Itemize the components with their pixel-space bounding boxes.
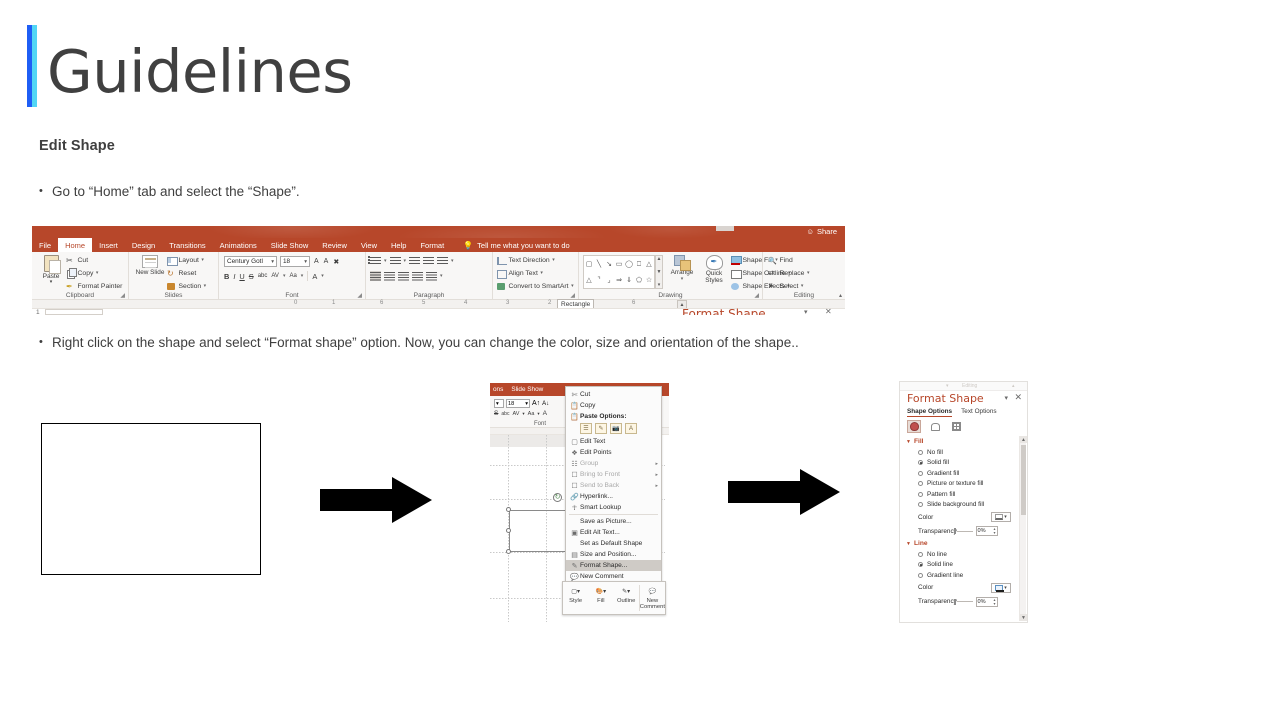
collapse-triangle-icon: ▼ [906,439,911,445]
ribbon-tab-strip: File Home Insert Design Transitions Anim… [32,238,845,252]
mini-style-button[interactable]: ▢▾ Style [563,582,588,614]
radio-button[interactable] [918,460,923,465]
ribbon-group-clipboard: Paste ▾ Cut Copy ▾ Format Pain [32,252,129,300]
scroll-up-icon[interactable]: ▲ [1020,436,1027,443]
tab-insert[interactable]: Insert [92,238,125,252]
star-shape-icon[interactable]: ☆ [646,277,652,284]
selected-shape[interactable] [509,510,569,552]
chevron-down-icon[interactable]: ▾ [96,268,99,279]
tab-format[interactable]: Format [413,238,451,252]
elbow-connector-icon[interactable]: ⌝ [597,277,600,284]
scissors-icon [66,256,75,265]
convert-to-smartart-button[interactable]: Convert to SmartArt ▾ [497,281,574,292]
ruler-tick: 4 [464,300,467,306]
scroll-down-icon[interactable]: ▼ [657,269,662,275]
increase-font-size-button[interactable]: A↑ [532,400,540,407]
chevron-down-icon[interactable]: ▾ [301,273,304,279]
fill-bucket-icon[interactable] [907,420,921,433]
radio-button[interactable] [918,552,923,557]
chevron-down-icon[interactable]: ▾ [283,273,286,279]
numbering-icon[interactable] [390,256,401,266]
layout-icon [167,256,176,265]
radio-button[interactable] [918,471,923,476]
tab-help[interactable]: Help [384,238,413,252]
ribbon-group-editing: Find Replace ▾ Select ▾ Editing ▴ [763,252,845,300]
divider [307,271,308,281]
menu-item-label: Format Shape... [580,562,661,569]
new-slide-button[interactable]: New Slide [135,255,165,276]
radio-solid-fill[interactable]: Solid fill [900,458,1021,469]
chevron-down-icon[interactable]: ▾ [540,268,543,279]
strikethrough-button[interactable]: S [494,410,498,417]
line-spacing-icon[interactable] [437,256,448,266]
format-painter-label: Format Painter [78,281,123,292]
tab-home[interactable]: Home [58,238,92,252]
radio-label: No line [927,551,947,558]
chevron-down-icon[interactable]: ▾ [321,273,324,279]
dialog-launcher-icon[interactable]: ◢ [754,292,759,299]
chevron-down-icon[interactable]: ▾ [1004,585,1007,591]
menu-item-hyperlink[interactable]: 🔗 Hyperlink... [566,491,661,502]
ribbon-group-paragraph-commands: Text Direction ▾ Align Text ▾ Convert to… [493,252,579,300]
change-case-button[interactable]: Aa [289,273,296,279]
fill-bucket-icon: 🎨▾ [588,585,613,598]
font-size-combo[interactable]: 18 ▾ [280,256,310,267]
increase-indent-icon[interactable] [423,256,434,266]
font-name-combo[interactable]: Century Gotl ▾ [224,256,277,267]
columns-icon[interactable] [426,271,437,281]
format-painter-button[interactable]: Format Painter [66,281,122,292]
font-size-value: 18 [508,401,514,407]
quick-styles-icon [706,255,723,270]
triangle-shape-icon[interactable]: △ [586,277,591,284]
paste-icon: 📋 [569,413,580,421]
line-shape-icon[interactable]: ╲ [597,261,601,268]
slider-track[interactable] [957,531,973,532]
mini-new-comment-button[interactable]: 💬 New Comment [640,582,665,614]
slider-handle[interactable] [954,528,956,534]
align-right-icon[interactable] [398,271,409,281]
chevron-down-icon[interactable]: ▾ [494,399,504,408]
partial-ribbon-strip: ▾ Editing ▴ [900,382,1027,391]
cut-button[interactable]: Cut [66,255,122,266]
oval-shape-icon[interactable]: ◯ [625,261,633,268]
radio-button[interactable] [918,502,923,507]
gallery-expand-icon[interactable]: ▾ [658,282,661,288]
shape-effects-icon [731,282,740,291]
mini-button-label: Outline [614,598,639,604]
line-transparency-stepper[interactable]: 0% ▴▾ [976,597,998,607]
menu-item-label: Edit Points [580,449,661,456]
decrease-font-size-button[interactable]: A [323,258,330,265]
text-direction-button[interactable]: Text Direction ▾ [497,255,574,266]
chevron-down-icon[interactable]: ▾ [801,281,804,292]
increase-font-size-button[interactable]: A [313,258,320,265]
share-button[interactable]: ☺ Share [806,227,837,236]
ribbon-group-slides: New Slide Layout ▾ Reset Section [129,252,219,300]
font-color-button[interactable]: A [543,410,547,417]
field-fill-color: Color ▾ [900,510,1021,524]
elbow-arrow-icon[interactable]: ⌟ [607,277,610,284]
dialog-launcher-icon[interactable]: ◢ [120,292,125,299]
fill-transparency-slider[interactable] [954,528,973,534]
ribbon-screenshot: ☺ Share File Home Insert Design Transiti… [32,226,845,315]
align-text-icon [497,269,506,278]
chevron-down-icon[interactable]: ▾ [384,258,387,264]
ruler-tick: 5 [422,300,425,306]
chevron-down-icon[interactable]: ▾ [804,308,808,315]
bold-button[interactable]: B [224,272,229,281]
close-icon[interactable]: ✕ [825,307,832,315]
section-subheading: Edit Shape [39,138,115,154]
fill-color-picker[interactable]: ▾ [991,512,1011,522]
section-icon [167,282,176,291]
radio-gradient-line[interactable]: Gradient line [900,570,1021,581]
shape-style-icon: ▢▾ [563,585,588,598]
justify-icon[interactable] [412,271,423,281]
menu-item-label: Hyperlink... [580,493,661,500]
radio-picture-or-texture-fill[interactable]: Picture or texture fill [900,479,1021,490]
radio-solid-line[interactable]: Solid line [900,560,1021,571]
blank-rectangle-shape[interactable] [41,423,261,575]
person-icon: ☺ [806,227,814,236]
mini-button-label: New Comment [640,598,665,610]
scrollbar-thumb[interactable] [1021,445,1026,515]
paragraph-command-list: Text Direction ▾ Align Text ▾ Convert to… [497,255,574,294]
bullet-item-1: • Go to “Home” tab and select the “Shape… [39,183,300,200]
ruler-tick: 0 [294,300,297,306]
title-accent-bars [27,25,37,107]
group-label-font: Font [534,421,546,427]
ruler-tick: 6 [380,300,383,306]
find-label: Find [780,255,793,266]
pane-body: ▼ Fill No fill Solid fill Gradient fill … [900,436,1021,621]
chevron-down-icon[interactable]: ▾ [525,401,528,407]
field-label: Color [918,514,951,521]
strikethrough-button[interactable]: S [249,272,254,281]
menu-item-format-shape[interactable]: ✎ Format Shape... [566,560,661,571]
chevron-down-icon[interactable]: ▾ [201,255,204,266]
accent-bar-cyan [32,25,37,107]
copy-label: Copy [78,268,94,279]
bring-front-icon: ☐ [569,471,580,479]
layout-grid-icon[interactable] [949,420,963,433]
new-comment-icon: 💬 [569,573,580,581]
chevron-down-icon[interactable]: ▾ [451,258,454,264]
chevron-down-icon[interactable]: ▾ [552,255,555,266]
stepper-value: 0% [978,599,986,605]
pentagon-shape-icon[interactable]: ⬠ [636,277,642,284]
copy-button[interactable]: Copy ▾ [66,268,122,279]
font-controls-row-1: ▾ 18 ▾ A↑ A↓ [494,399,549,408]
slider-track[interactable] [957,601,973,602]
slide-thumbnail[interactable] [45,309,103,315]
tab-slide-show[interactable]: Slide Show [264,238,316,252]
paste-options-row: ☰ ✎ 📷 A [566,422,661,436]
mini-fill-button[interactable]: 🎨▾ Fill [588,582,613,614]
stepper-arrows-icon[interactable]: ▴▾ [993,598,995,606]
bullets-icon[interactable] [370,256,381,266]
chevron-down-icon[interactable]: ▾ [271,259,274,265]
tell-me-search[interactable]: 💡 Tell me what you want to do [451,238,570,252]
align-center-icon[interactable] [384,271,395,281]
collapse-ribbon-icon[interactable]: ▴ [839,292,842,299]
menu-item-save-as-picture[interactable]: Save as Picture... [566,516,661,527]
menu-item-label: Edit Text [580,438,661,445]
reset-label: Reset [179,268,197,279]
mini-outline-button[interactable]: ✎▾ Outline [614,582,639,614]
chevron-down-icon[interactable]: ▾ [522,411,524,417]
chevron-down-icon[interactable]: ▾ [571,281,574,292]
tab-shape-options[interactable]: Shape Options [907,408,952,417]
editing-command-list: Find Replace ▾ Select ▾ [768,255,809,294]
dialog-launcher-icon[interactable]: ◢ [357,292,362,299]
font-color-button[interactable]: A [312,272,317,281]
menu-item-copy[interactable]: 📋 Copy [566,400,661,411]
reset-button[interactable]: Reset [167,268,206,279]
radio-label: Pattern fill [927,491,955,498]
menu-item-bring-to-front: ☐ Bring to Front ▸ [566,469,661,480]
workspace-strip: 1 Format Shape ▾ ✕ [32,309,845,315]
underline-button[interactable]: U [239,272,244,281]
align-left-icon[interactable] [370,271,381,281]
replace-button[interactable]: Replace ▾ [768,268,809,279]
menu-item-label: Group [580,460,655,467]
share-label: Share [817,227,837,236]
context-menu-screenshot: ons Slide Show ▾ 18 ▾ A↑ A↓ S abc AV ▾ A… [490,383,669,622]
text-shadow-button[interactable]: abc [258,273,268,279]
format-shape-pane-screenshot: ▾ Editing ▴ Format Shape ▾ ✕ Shape Optio… [899,381,1028,623]
flow-arrow-1 [320,477,432,523]
tab-review[interactable]: Review [315,238,354,252]
group-label-font: Font [219,292,365,299]
layout-label: Layout [179,255,199,266]
fill-transparency-stepper[interactable]: 0% ▴▾ [976,526,998,536]
tab-view[interactable]: View [354,238,384,252]
find-button[interactable]: Find [768,255,809,266]
font-controls-row-1: Century Gotl ▾ 18 ▾ A A ✖ [224,256,340,267]
menu-item-edit-text[interactable]: ▢ Edit Text [566,436,661,447]
powerpoint-slide: Guidelines Edit Shape • Go to “Home” tab… [0,0,1280,720]
radio-no-fill[interactable]: No fill [900,447,1021,458]
tab-slide-show[interactable]: Slide Show [511,386,543,393]
ribbon-group-drawing: ▢ ╲ ↘ ▭ ◯ ⎕ △ △ ⌝ ⌟ ⇒ ⇓ ⬠ ☆ ▲ ▼ [579,252,763,300]
change-case-button[interactable]: Aa [528,411,535,417]
radio-slide-background-fill[interactable]: Slide background fill [900,500,1021,511]
section-header-line[interactable]: ▼ Line [900,538,1021,549]
new-slide-icon [142,255,158,268]
field-label: Color [918,584,951,591]
flow-arrow-2 [728,469,840,515]
effects-pentagon-icon[interactable] [928,420,942,433]
line-transparency-slider[interactable] [954,599,973,605]
paragraph-list-controls: ▾ ▾ ▾ [370,256,454,266]
menu-item-paste-options: 📋 Paste Options: [566,411,661,422]
copy-icon: 📋 [569,402,580,410]
close-icon[interactable]: ✕ [1014,392,1022,403]
menu-item-label: Size and Position... [580,551,661,558]
shapes-gallery[interactable]: ▢ ╲ ↘ ▭ ◯ ⎕ △ △ ⌝ ⌟ ⇒ ⇓ ⬠ ☆ [583,255,655,289]
menu-item-group: ☷ Group ▸ [566,458,661,469]
copy-icon [66,269,75,278]
menu-item-label: Paste Options: [580,413,661,420]
decrease-indent-icon[interactable] [409,256,420,266]
paste-image-icon[interactable]: 📷 [610,423,622,434]
radio-button[interactable] [918,562,923,567]
menu-item-label: Save as Picture... [580,518,661,525]
clear-formatting-icon[interactable]: ✖ [332,258,340,266]
chevron-down-icon[interactable]: ▾ [404,258,407,264]
radio-gradient-fill[interactable]: Gradient fill [900,468,1021,479]
radio-button[interactable] [918,573,923,578]
radio-label: Gradient fill [927,470,959,477]
chevron-down-icon[interactable]: ▾ [667,276,697,282]
right-arrow-icon [728,469,840,515]
rectangle-shape-icon[interactable]: ▭ [616,261,623,268]
chevron-down-icon[interactable]: ▾ [807,268,810,279]
line-color-picker[interactable]: ▾ [991,583,1011,593]
menu-item-set-default-shape[interactable]: Set as Default Shape [566,538,661,549]
menu-item-size-and-position[interactable]: ▤ Size and Position... [566,549,661,560]
menu-item-label: Smart Lookup [580,504,661,511]
radio-label: Picture or texture fill [927,480,983,487]
rounded-rect-shape-icon[interactable]: ⎕ [637,261,641,268]
ruler-tick: 1 [332,300,335,306]
paste-button[interactable]: Paste ▾ [38,255,64,284]
line-color-swatch [995,585,1003,591]
resize-handle[interactable] [506,507,511,512]
right-arrow-shape-icon[interactable]: ⇒ [616,277,622,284]
radio-label: Solid line [927,561,953,568]
italic-button[interactable]: I [233,272,235,281]
decrease-font-size-button[interactable]: A↓ [542,401,549,407]
align-text-button[interactable]: Align Text ▾ [497,268,574,279]
menu-item-cut[interactable]: ✄ Cut [566,389,661,400]
down-arrow-shape-icon[interactable]: ⇓ [626,277,632,284]
chevron-down-icon[interactable]: ▾ [1004,394,1008,402]
pane-title: Format Shape [907,392,984,405]
text-shadow-button[interactable]: abc [501,411,509,417]
divider [569,514,658,515]
radio-button[interactable] [918,492,923,497]
rotate-handle[interactable]: ↻ [553,493,562,502]
radio-no-line[interactable]: No line [900,549,1021,560]
hyperlink-icon: 🔗 [569,493,580,501]
tab-partial[interactable]: ons [493,386,503,393]
bullet-item-2: • Right click on the shape and select “F… [39,334,799,351]
radio-button[interactable] [918,481,923,486]
font-controls-row-2: B I U S abc AV ▾ Aa ▾ A ▾ [224,271,324,281]
chevron-down-icon[interactable]: ▾ [38,280,64,284]
arrange-button[interactable]: Arrange ▾ [667,255,697,282]
slide-thumbnail-number: 1 [36,309,40,315]
quick-styles-button[interactable]: Quick Styles [698,255,730,284]
radio-button[interactable] [918,450,923,455]
convert-smartart-label: Convert to SmartArt [509,281,569,292]
textbox-shape-icon[interactable]: ▢ [586,261,593,268]
layout-button[interactable]: Layout ▾ [167,255,206,266]
mini-button-label: Fill [588,598,613,604]
menu-item-edit-points[interactable]: ❖ Edit Points [566,447,661,458]
section-header-fill[interactable]: ▼ Fill [900,436,1021,447]
section-button[interactable]: Section ▾ [167,281,206,292]
slides-command-list: Layout ▾ Reset Section ▾ [167,255,206,294]
scroll-down-icon[interactable]: ▼ [1020,614,1027,621]
section-label: Line [914,540,928,547]
stepper-arrows-icon[interactable]: ▴▾ [993,527,995,535]
arrow-shape-icon[interactable]: ↘ [606,261,612,268]
pane-icon-row [907,420,963,433]
tab-design[interactable]: Design [125,238,162,252]
smart-lookup-icon: ☥ [569,504,580,512]
field-label: Transparency [918,528,951,535]
ribbon-group-paragraph: ▾ ▾ ▾ ▾ Paragraph [366,252,493,300]
tab-transitions[interactable]: Transitions [162,238,212,252]
chevron-down-icon[interactable]: ▾ [537,411,539,417]
character-spacing-button[interactable]: AV [512,411,519,417]
chevron-down-icon[interactable]: ▾ [204,281,207,292]
menu-item-label: Edit Alt Text... [580,529,661,536]
group-label-clipboard: Clipboard [32,292,128,299]
cut-label: Cut [78,255,89,266]
paste-keep-source-icon[interactable]: ☰ [580,423,592,434]
slider-handle[interactable] [954,599,956,605]
chevron-down-icon[interactable]: ▾ [304,259,307,265]
quick-styles-label: Quick Styles [698,270,730,284]
select-button[interactable]: Select ▾ [768,281,809,292]
scroll-up-icon[interactable]: ▲ [657,256,662,262]
menu-item-edit-alt-text[interactable]: ▣ Edit Alt Text... [566,527,661,538]
chevron-down-icon: ▾ [946,383,949,389]
bullet-marker: • [39,183,52,200]
scissors-icon: ✄ [569,391,580,399]
group-label-drawing: Drawing [579,292,762,299]
font-size-combo[interactable]: 18 ▾ [506,399,530,408]
triangle-up-shape-icon[interactable]: △ [646,261,651,268]
dialog-launcher-icon[interactable]: ◢ [570,292,575,299]
radio-pattern-fill[interactable]: Pattern fill [900,489,1021,500]
clipboard-icon [44,255,59,272]
size-position-icon: ▤ [569,551,580,559]
menu-item-smart-lookup[interactable]: ☥ Smart Lookup [566,502,661,513]
window-minimize-icon [716,226,734,231]
collapse-ribbon-icon: ▴ [1012,383,1015,389]
menu-item-label: Set as Default Shape [580,540,661,547]
resize-handle[interactable] [506,549,511,554]
chevron-down-icon[interactable]: ▾ [440,273,443,279]
text-direction-label: Text Direction [509,255,550,266]
menu-item-label: Cut [580,391,661,398]
paste-text-only-icon[interactable]: A [625,423,637,434]
chevron-down-icon[interactable]: ▾ [1004,514,1007,520]
shapes-gallery-scrollbar[interactable]: ▲ ▼ ▾ [655,255,663,289]
stepper-value: 0% [978,528,986,534]
tab-text-options[interactable]: Text Options [961,408,997,417]
radio-label: Gradient line [927,572,963,579]
resize-handle[interactable] [506,528,511,533]
fill-color-swatch [995,514,1003,520]
submenu-arrow-icon: ▸ [655,461,661,467]
character-spacing-button[interactable]: AV [271,273,279,279]
format-shape-icon: ✎ [569,562,580,570]
smartart-icon [497,282,506,291]
radio-label: Slide background fill [927,501,984,508]
mini-button-label: Style [563,598,588,604]
paste-picture-icon[interactable]: ✎ [595,423,607,434]
tab-animations[interactable]: Animations [213,238,264,252]
tab-file[interactable]: File [32,238,58,252]
arrange-icon [674,255,690,269]
